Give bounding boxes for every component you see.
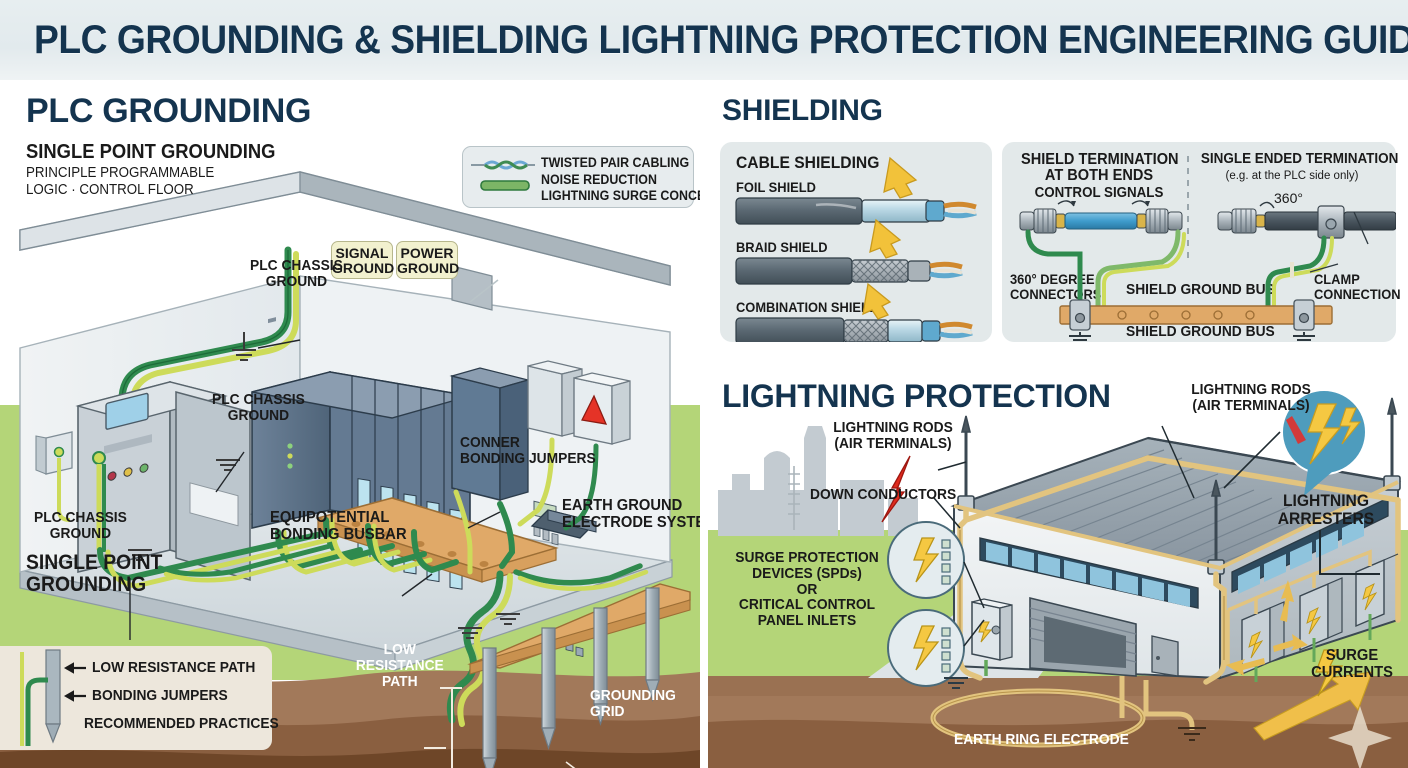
lbl-line: LOW (356, 642, 444, 658)
label-down-conductors: DOWN CONDUCTORS (810, 487, 956, 503)
lbl-line: GRID (590, 704, 676, 720)
panel-plc-grounding: PLC GROUNDING SINGLE POINT GROUNDING PRI… (0, 80, 700, 768)
page-header: PLC GROUNDING & SHIELDING LIGHTNING PROT… (0, 0, 1408, 80)
grounding-legend-box: TWISTED PAIR CABLING NOISE REDUCTION LIG… (462, 146, 694, 208)
lbl-line: SURGE PROTECTION (729, 550, 885, 566)
practices-row-1: BONDING JUMPERS (92, 688, 228, 704)
label-lightning-rods-left: LIGHTNING RODS (AIR TERMINALS) (824, 420, 962, 452)
lbl-line: GROUNDING (26, 574, 162, 596)
lbl-line: BONDING JUMPERS (460, 451, 596, 467)
lbl-line: CURRENTS (1304, 665, 1400, 682)
lbl-line: LIGHTNING RODS (1182, 382, 1320, 398)
panel-lightning-protection: LIGHTNING PROTECTION LIGHTNING RODS (AIR… (708, 370, 1408, 768)
chip-power-ground-line1: POWER (397, 246, 457, 261)
lbl-line: BONDING BUSBAR (270, 527, 407, 544)
lbl-line: OR (729, 582, 885, 598)
legend-item-1-label-line2: LIGHTNING SURGE CONCEPT (541, 189, 700, 203)
lbl-line: PLC CHASSIS (212, 392, 305, 408)
grounding-subtitle-line3: LOGIC · CONTROL FLOOR (26, 183, 194, 198)
label-plc-chassis-ground-low: PLC CHASSIS GROUND (34, 510, 127, 542)
lbl-line: RESISTANCE (356, 658, 444, 674)
lbl-line: EARTH GROUND (562, 498, 700, 515)
practices-footer: RECOMMENDED PRACTICES (84, 716, 279, 732)
shielding-section-title: SHIELDING (722, 94, 883, 128)
shield-termination-card: SHIELD TERMINATION AT BOTH ENDS CONTROL … (1002, 142, 1396, 342)
lbl-line: SURGE (1304, 648, 1400, 665)
label-single-point-grounding: SINGLE POINT GROUNDING (26, 552, 162, 596)
practices-row-0: LOW RESISTANCE PATH (92, 660, 255, 676)
lbl-line: PATH (356, 674, 444, 690)
lbl-line: ARRESTERS (1262, 510, 1391, 528)
lbl-line: PANEL INLETS (729, 613, 885, 629)
chip-power-ground[interactable]: POWER GROUND (396, 241, 458, 279)
page-title: PLC GROUNDING & SHIELDING LIGHTNING PROT… (34, 18, 1408, 63)
recommended-practices-box: LOW RESISTANCE PATH BONDING JUMPERS RECO… (0, 646, 272, 750)
label-surge-currents: SURGE CURRENTS (1304, 648, 1400, 682)
label-lightning-arresters: LIGHTNING ARRESTERS (1262, 492, 1391, 528)
legend-item-0-label: TWISTED PAIR CABLING (541, 156, 689, 170)
lbl-line: DEVICES (SPDs) (729, 566, 885, 582)
cable-shielding-card: CABLE SHIELDING FOIL SHIELD BRAID SHIELD… (720, 142, 992, 342)
panel-shielding: SHIELDING CABLE SHIELDING FOIL SHIELD BR… (708, 80, 1408, 370)
chip-power-ground-line2: GROUND (397, 261, 457, 276)
cable-cross-sections (720, 142, 992, 342)
termination-illustration (1002, 142, 1396, 342)
lightning-section-title: LIGHTNING PROTECTION (722, 378, 1111, 415)
label-grounding-grid: GROUNDING GRID (590, 688, 676, 720)
label-plc-chassis-ground-top: PLC CHASSIS GROUND (250, 258, 343, 290)
lbl-line: (AIR TERMINALS) (824, 436, 962, 452)
lbl-line: CRITICAL CONTROL (729, 597, 885, 613)
label-conner-bonding-jumpers: CONNER BONDING JUMPERS (460, 435, 596, 467)
lbl-line: ELECTRODE SYSTEM (562, 515, 700, 532)
label-lightning-rods-right: LIGHTNING RODS (AIR TERMINALS) (1182, 382, 1320, 414)
lbl-line: LIGHTNING RODS (824, 420, 962, 436)
label-plc-chassis-ground-mid: PLC CHASSIS GROUND (212, 392, 305, 424)
legend-item-1-label-line1: NOISE REDUCTION (541, 173, 657, 187)
lbl-line: PLC CHASSIS (34, 510, 127, 526)
grounding-section-title: PLC GROUNDING (26, 92, 311, 131)
lbl-line: PLC CHASSIS (250, 258, 343, 274)
lbl-line: GROUNDING (590, 688, 676, 704)
infographic-page: PLC GROUNDING & SHIELDING LIGHTNING PROT… (0, 0, 1408, 768)
label-equipotential-bonding-busbar: EQUIPOTENTIAL BONDING BUSBAR (270, 510, 407, 544)
label-surge-protection-devices: SURGE PROTECTION DEVICES (SPDs) OR CRITI… (729, 550, 885, 629)
lbl-line: LIGHTNING (1262, 492, 1391, 510)
lbl-line: SINGLE POINT (26, 552, 162, 574)
grounding-subtitle-line2: PRINCIPLE PROGRAMMABLE (26, 166, 214, 181)
label-earth-ground-electrode-system: EARTH GROUND ELECTRODE SYSTEM (562, 498, 700, 532)
label-low-resistance-path: LOW RESISTANCE PATH (356, 642, 444, 689)
lbl-line: GROUND (250, 274, 343, 290)
lbl-line: (AIR TERMINALS) (1182, 398, 1320, 414)
lbl-line: GROUND (34, 526, 127, 542)
lbl-line: CONNER (460, 435, 596, 451)
lbl-line: EQUIPOTENTIAL (270, 510, 407, 527)
grounding-subtitle: SINGLE POINT GROUNDING (26, 142, 275, 163)
lbl-line: GROUND (212, 408, 305, 424)
label-earth-ring-electrode: EARTH RING ELECTRODE (954, 732, 1129, 748)
